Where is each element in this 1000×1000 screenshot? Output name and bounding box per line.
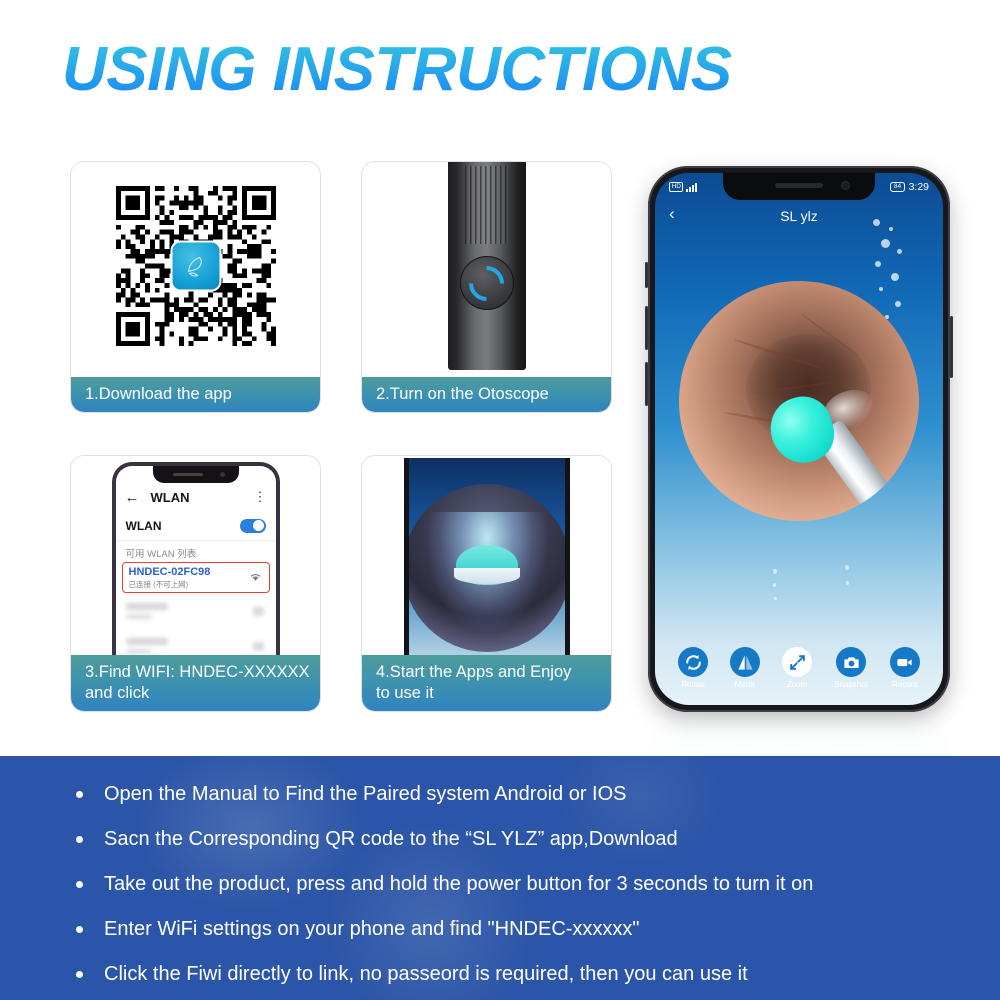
instruction-list: Open the Manual to Find the Paired syste… [0, 756, 1000, 984]
reflection-label: Rotate [680, 741, 704, 750]
wifi-network-blurred[interactable] [122, 634, 270, 656]
toolbar-label: Rotate [681, 680, 705, 689]
battery-indicator: 84 [890, 182, 904, 192]
signal-bars-icon [686, 183, 697, 192]
wifi-status: 已连接 (不可上网) [129, 579, 263, 590]
phone-reflection: Rotate Mirror Zoom Snapshot Record [648, 714, 950, 756]
mirror-icon [730, 647, 760, 677]
scope-circle-view [404, 484, 570, 652]
wlan-appbar: ← WLAN ⋮ [116, 483, 276, 511]
chevron-left-icon[interactable]: ‹ [669, 205, 675, 222]
wlan-list-header: 可用 WLAN 列表 [126, 546, 197, 560]
reflection-label: Snapshot [830, 741, 864, 750]
hd-icon: HD [669, 182, 683, 192]
ear-canal-view [679, 281, 919, 521]
panel-download-app: 1.Download the app [70, 161, 321, 413]
panel-caption: 2.Turn on the Otoscope [362, 377, 611, 412]
list-item: Sacn the Corresponding QR code to the “S… [0, 829, 1000, 849]
page-title: USING INSTRUCTIONS [62, 34, 732, 105]
reflection-label: Mirror [732, 741, 753, 750]
status-bar-clock: 3:29 [909, 181, 929, 193]
phone-volume-up-button [645, 306, 648, 350]
scope-probe-shaft [454, 568, 520, 584]
list-item: Take out the product, press and hold the… [0, 874, 1000, 894]
wifi-network-blurred[interactable] [122, 599, 270, 626]
camera-icon [836, 647, 866, 677]
toolbar-label: Record [892, 680, 918, 689]
phone-notch [153, 466, 239, 483]
wifi-network-hndec[interactable]: HNDEC-02FC98 已连接 (不可上网) [122, 562, 270, 593]
phone-volume-down-button [645, 362, 648, 406]
zoom-icon [782, 647, 812, 677]
power-button[interactable] [460, 256, 514, 310]
wlan-toggle-switch[interactable] [240, 519, 266, 533]
wlan-toggle-row[interactable]: WLAN [116, 511, 276, 541]
toolbar-button-record[interactable]: Record [890, 647, 920, 689]
scope-preview [404, 458, 570, 656]
panel-caption: 4.Start the Apps and Enjoy to use it [362, 655, 611, 711]
otoscope-grip-texture [465, 166, 509, 244]
qr-code [116, 186, 276, 346]
panel-download-app-body [71, 162, 320, 370]
panel-start-apps: 4.Start the Apps and Enjoy to use it [361, 455, 612, 712]
otoscope-device [448, 162, 526, 370]
panel-scope-body [362, 456, 611, 656]
toolbar-button-snapshot[interactable]: Snapshot [834, 647, 868, 689]
panel-wlan-body: ← WLAN ⋮ WLAN 可用 WLAN 列表 HNDEC-02FC98 已连… [71, 456, 320, 656]
instructions-footer: Open the Manual to Find the Paired syste… [0, 756, 1000, 1000]
wifi-ssid: HNDEC-02FC98 [129, 566, 263, 578]
toolbar-button-mirror[interactable]: Mirror [730, 647, 760, 689]
wlan-toggle-label: WLAN [126, 519, 162, 533]
video-icon [890, 647, 920, 677]
wifi-icon [249, 572, 262, 582]
panel-caption: 3.Find WIFI: HNDEC-XXXXXX and click [71, 655, 320, 711]
list-item: Click the Fiwi directly to link, no pass… [0, 964, 1000, 984]
app-logo-icon [181, 251, 211, 281]
camera-toolbar: Rotate Mirror [655, 639, 943, 697]
panel-otoscope-body [362, 162, 611, 370]
phone-mute-switch [645, 262, 648, 288]
panel-find-wifi: ← WLAN ⋮ WLAN 可用 WLAN 列表 HNDEC-02FC98 已连… [70, 455, 321, 712]
list-item: Open the Manual to Find the Paired syste… [0, 784, 1000, 804]
toolbar-button-rotate[interactable]: Rotate [678, 647, 708, 689]
reflection-label: Zoom [781, 741, 801, 750]
panel-turn-on-otoscope: 2.Turn on the Otoscope [361, 161, 612, 413]
toolbar-label: Zoom [787, 680, 807, 689]
toolbar-button-zoom[interactable]: Zoom [782, 647, 812, 689]
panel-caption: 1.Download the app [71, 377, 320, 412]
rotate-icon [678, 647, 708, 677]
overflow-menu-icon[interactable]: ⋮ [254, 492, 267, 502]
app-title: SL ylz [780, 208, 818, 224]
wlan-appbar-title: WLAN [151, 490, 190, 505]
toolbar-label: Mirror [735, 680, 756, 689]
app-icon-badge [170, 241, 221, 292]
power-indicator-icon [462, 258, 511, 307]
reflection-label: Record [892, 741, 918, 750]
phone-power-button [950, 316, 953, 378]
wlan-phone-mock: ← WLAN ⋮ WLAN 可用 WLAN 列表 HNDEC-02FC98 已连… [112, 462, 280, 656]
phone-screen: HD 84 3:29 ‹ SL ylz [655, 173, 943, 705]
main-phone-mockup: HD 84 3:29 ‹ SL ylz [648, 166, 950, 712]
app-bar: ‹ SL ylz [655, 203, 943, 229]
toolbar-label: Snapshot [834, 680, 868, 689]
back-arrow-icon[interactable]: ← [125, 490, 140, 505]
list-item: Enter WiFi settings on your phone and fi… [0, 919, 1000, 939]
status-bar: HD 84 3:29 [655, 178, 943, 196]
